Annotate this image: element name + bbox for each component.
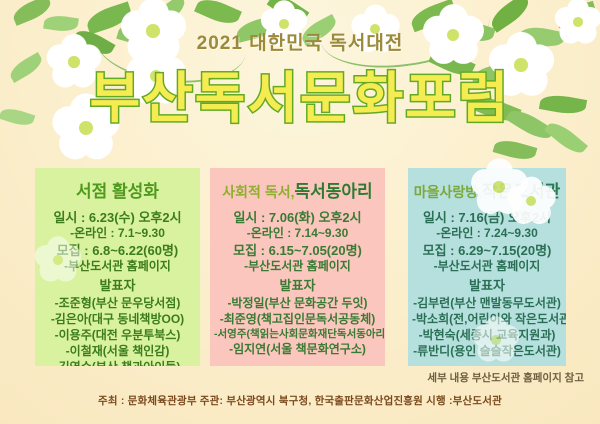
panel-heading: 서점 활성화 [39, 183, 196, 202]
panel-heading: 사회적 독서,독서동아리 [214, 183, 381, 202]
leaf-icon [554, 1, 597, 28]
program-panel-reading-club[interactable]: 사회적 독서,독서동아리 일시 : 7.06(화) 오후2시 -온라인 : 7.… [210, 168, 385, 366]
footer-organizers: 주최 : 문화체육관광부 주관: 부산광역시 북구청, 한국출판문화산업진흥원 … [0, 393, 600, 408]
panel-speakers-label: 발표자 [412, 277, 562, 294]
panel-heading-strong: 독서동아리 [294, 182, 372, 201]
panel-speaker-list: -박정일(부산 문화공간 두잇) -최준영(책고집인문독서공동체) -서영주(책… [214, 295, 381, 357]
list-item: -김부련(부산 맨발동무도서관) [412, 295, 562, 311]
flower-icon [508, 178, 554, 224]
panel-heading-soft: 사회적 독서, [222, 184, 294, 200]
panel-online: -온라인 : 7.24~9.30 [412, 226, 562, 242]
panel-date: 일시 : 6.23(수) 오후2시 [39, 209, 196, 226]
panel-recruit: 모집 : 6.29~7.15(20명) [412, 242, 562, 259]
list-item: -김은아(대구 동네책방OO) [39, 311, 196, 327]
poster-canvas: 2021 대한민국 독서대전 부산독서문화포럼 서점 활성화 일시 : 6.23… [0, 0, 600, 424]
flower-icon [474, 318, 518, 362]
page-title: 부산독서문화포럼 [0, 70, 600, 128]
panel-channel: -부산도서관 홈페이지 [214, 259, 381, 275]
panel-date: 일시 : 7.06(화) 오후2시 [214, 209, 381, 226]
list-item: -임지연(서울 책문화연구소) [214, 341, 381, 357]
panel-online: -온라인 : 7.14~9.30 [214, 226, 381, 242]
list-item: -이용주(대전 우분투북스) [39, 327, 196, 343]
list-item: -조준형(부산 문우당서점) [39, 295, 196, 311]
list-item: -서영주(책읽는사회문화재단독서동아리지원센터) [214, 327, 381, 341]
flower-icon [36, 238, 80, 282]
leaf-icon [267, 0, 310, 27]
panel-speakers-label: 발표자 [214, 277, 381, 294]
list-item: -최준영(책고집인문독서공동체) [214, 311, 381, 327]
list-item: -이철재(서울 책인감) [39, 343, 196, 359]
list-item: -박정일(부산 문화공간 두잇) [214, 295, 381, 311]
panel-channel: -부산도서관 홈페이지 [412, 259, 562, 275]
leaf-icon [10, 0, 53, 26]
panel-recruit: 모집 : 6.15~7.05(20명) [214, 242, 381, 259]
leaf-icon [149, 0, 189, 30]
list-item: -김영수(부산 책과아이들) [39, 359, 196, 366]
footer-note: 세부 내용 부산도서관 홈페이지 참고 [427, 370, 584, 385]
leaf-icon [194, 0, 242, 29]
panel-speaker-list: -조준형(부산 문우당서점) -김은아(대구 동네책방OO) -이용주(대전 우… [39, 295, 196, 366]
event-subtitle: 2021 대한민국 독서대전 [0, 28, 600, 55]
panel-heading-strong: 서점 활성화 [76, 182, 159, 201]
